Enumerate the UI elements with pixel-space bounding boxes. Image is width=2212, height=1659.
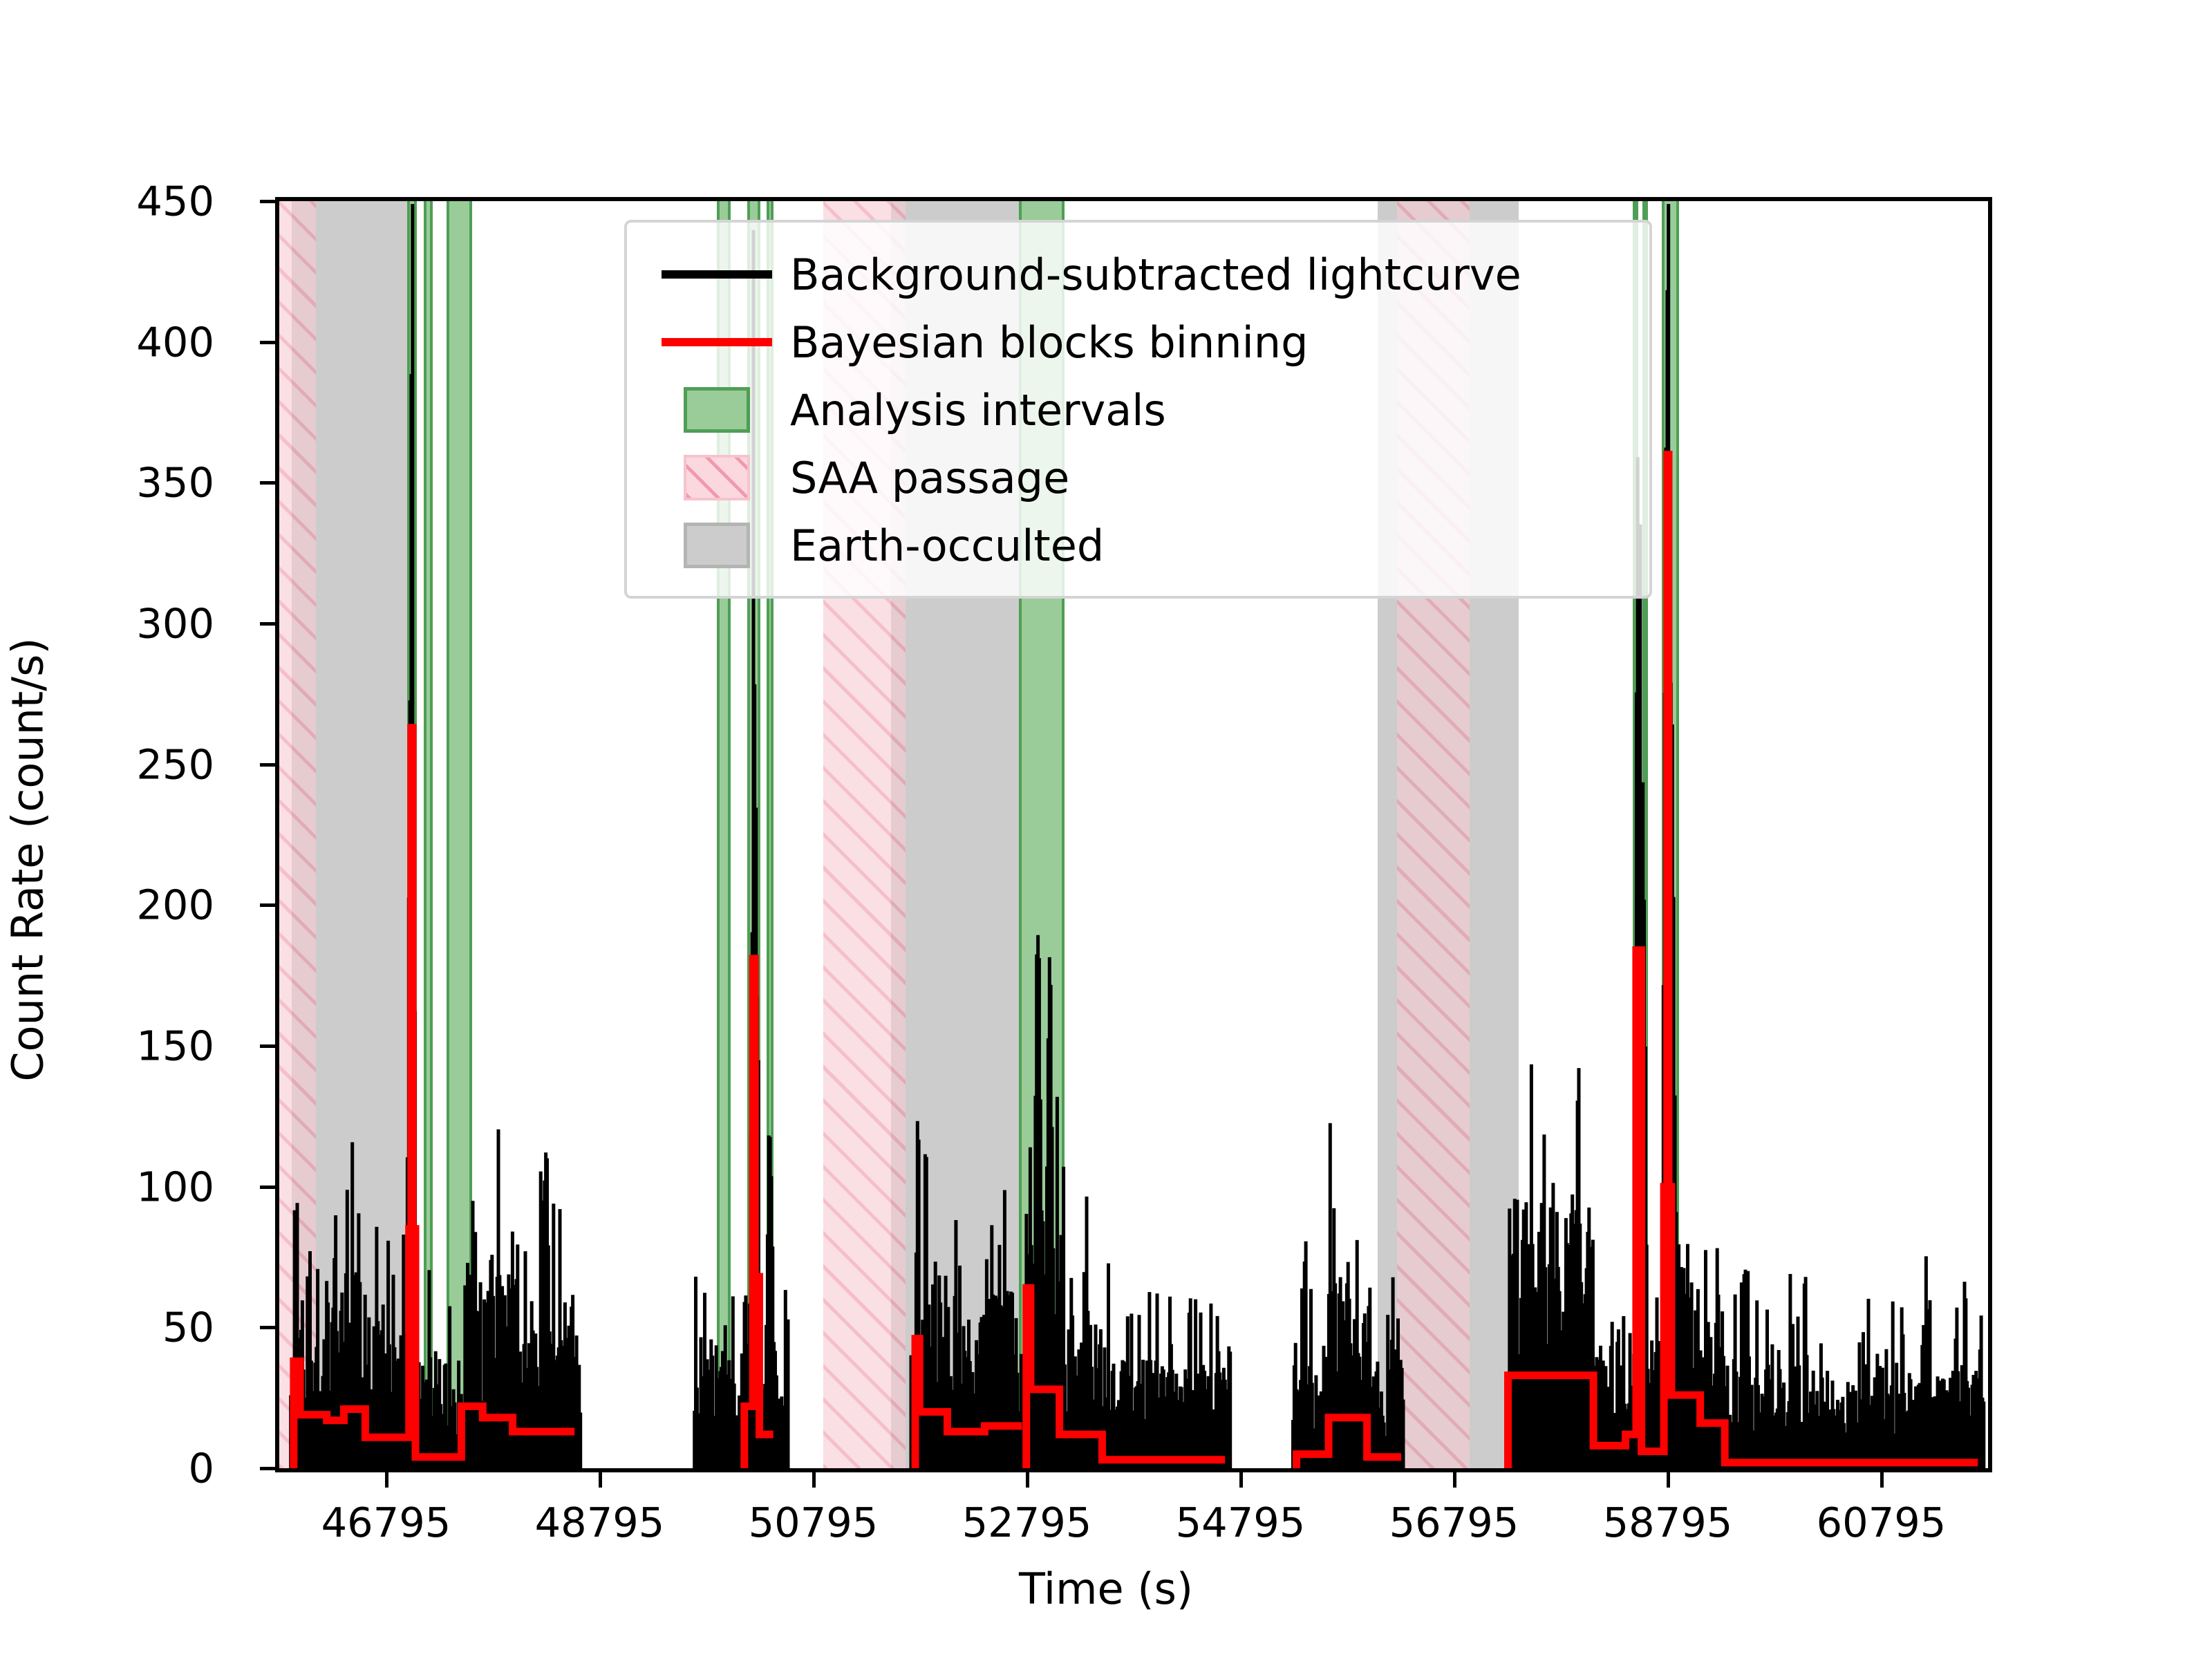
y-tick-label-8: 400 [136, 318, 214, 366]
chart-figure: Count Rate (count/s) Time (s) 0501001502… [0, 0, 2212, 1659]
x-tick-mark-6 [1667, 1472, 1670, 1488]
legend-item-saa-passage: SAA passage [648, 444, 1629, 512]
x-axis-label: Time (s) [0, 1564, 2212, 1614]
legend-key-red-line [648, 338, 786, 346]
legend-key-green-patch [648, 387, 786, 433]
y-tick-mark-0 [260, 1467, 275, 1470]
x-tick-label-0: 46795 [321, 1499, 451, 1546]
legend-label-bayesian-blocks: Bayesian blocks binning [786, 317, 1308, 368]
x-tick-label-7: 60795 [1817, 1499, 1947, 1546]
y-tick-mark-7 [260, 481, 275, 485]
legend-key-gray-patch [648, 523, 786, 568]
x-tick-mark-0 [385, 1472, 388, 1488]
x-tick-label-3: 52795 [962, 1499, 1092, 1546]
y-tick-label-6: 300 [136, 600, 214, 648]
y-tick-label-5: 250 [136, 740, 214, 788]
x-tick-label-1: 48795 [535, 1499, 665, 1546]
y-tick-label-7: 350 [136, 459, 214, 507]
y-tick-mark-5 [260, 763, 275, 767]
x-tick-label-6: 58795 [1603, 1499, 1733, 1546]
y-axis-label: Count Rate (count/s) [3, 445, 53, 1275]
legend-item-earth-occulted: Earth-occulted [648, 512, 1629, 579]
y-tick-mark-4 [260, 903, 275, 907]
legend-label-lightcurve: Background-subtracted lightcurve [786, 250, 1521, 300]
y-tick-label-2: 100 [136, 1163, 214, 1210]
x-tick-mark-5 [1453, 1472, 1456, 1488]
x-tick-mark-1 [599, 1472, 602, 1488]
x-tick-label-2: 50795 [749, 1499, 879, 1546]
legend-label-earth-occulted: Earth-occulted [786, 521, 1104, 571]
legend-label-saa-passage: SAA passage [786, 453, 1069, 503]
legend-item-lightcurve: Background-subtracted lightcurve [648, 241, 1629, 308]
y-tick-mark-6 [260, 622, 275, 626]
y-tick-mark-3 [260, 1044, 275, 1048]
x-tick-mark-3 [1026, 1472, 1029, 1488]
legend-item-analysis-intervals: Analysis intervals [648, 376, 1629, 444]
x-tick-mark-2 [812, 1472, 816, 1488]
x-tick-mark-4 [1239, 1472, 1243, 1488]
legend-key-saa-patch [648, 455, 786, 500]
legend-label-analysis-intervals: Analysis intervals [786, 385, 1166, 435]
y-tick-label-1: 50 [162, 1304, 214, 1351]
x-tick-mark-7 [1880, 1472, 1884, 1488]
y-tick-mark-2 [260, 1185, 275, 1189]
y-tick-mark-8 [260, 341, 275, 344]
y-tick-mark-9 [260, 200, 275, 203]
legend-item-bayesian-blocks: Bayesian blocks binning [648, 308, 1629, 376]
y-tick-mark-1 [260, 1326, 275, 1329]
y-tick-label-0: 0 [188, 1445, 214, 1492]
y-tick-label-4: 200 [136, 881, 214, 929]
x-tick-label-4: 54795 [1176, 1499, 1306, 1546]
legend: Background-subtracted lightcurve Bayesia… [624, 220, 1652, 599]
x-tick-label-5: 56795 [1389, 1499, 1519, 1546]
y-tick-label-9: 450 [136, 178, 214, 225]
legend-key-black-line [648, 270, 786, 279]
y-tick-label-3: 150 [136, 1022, 214, 1070]
